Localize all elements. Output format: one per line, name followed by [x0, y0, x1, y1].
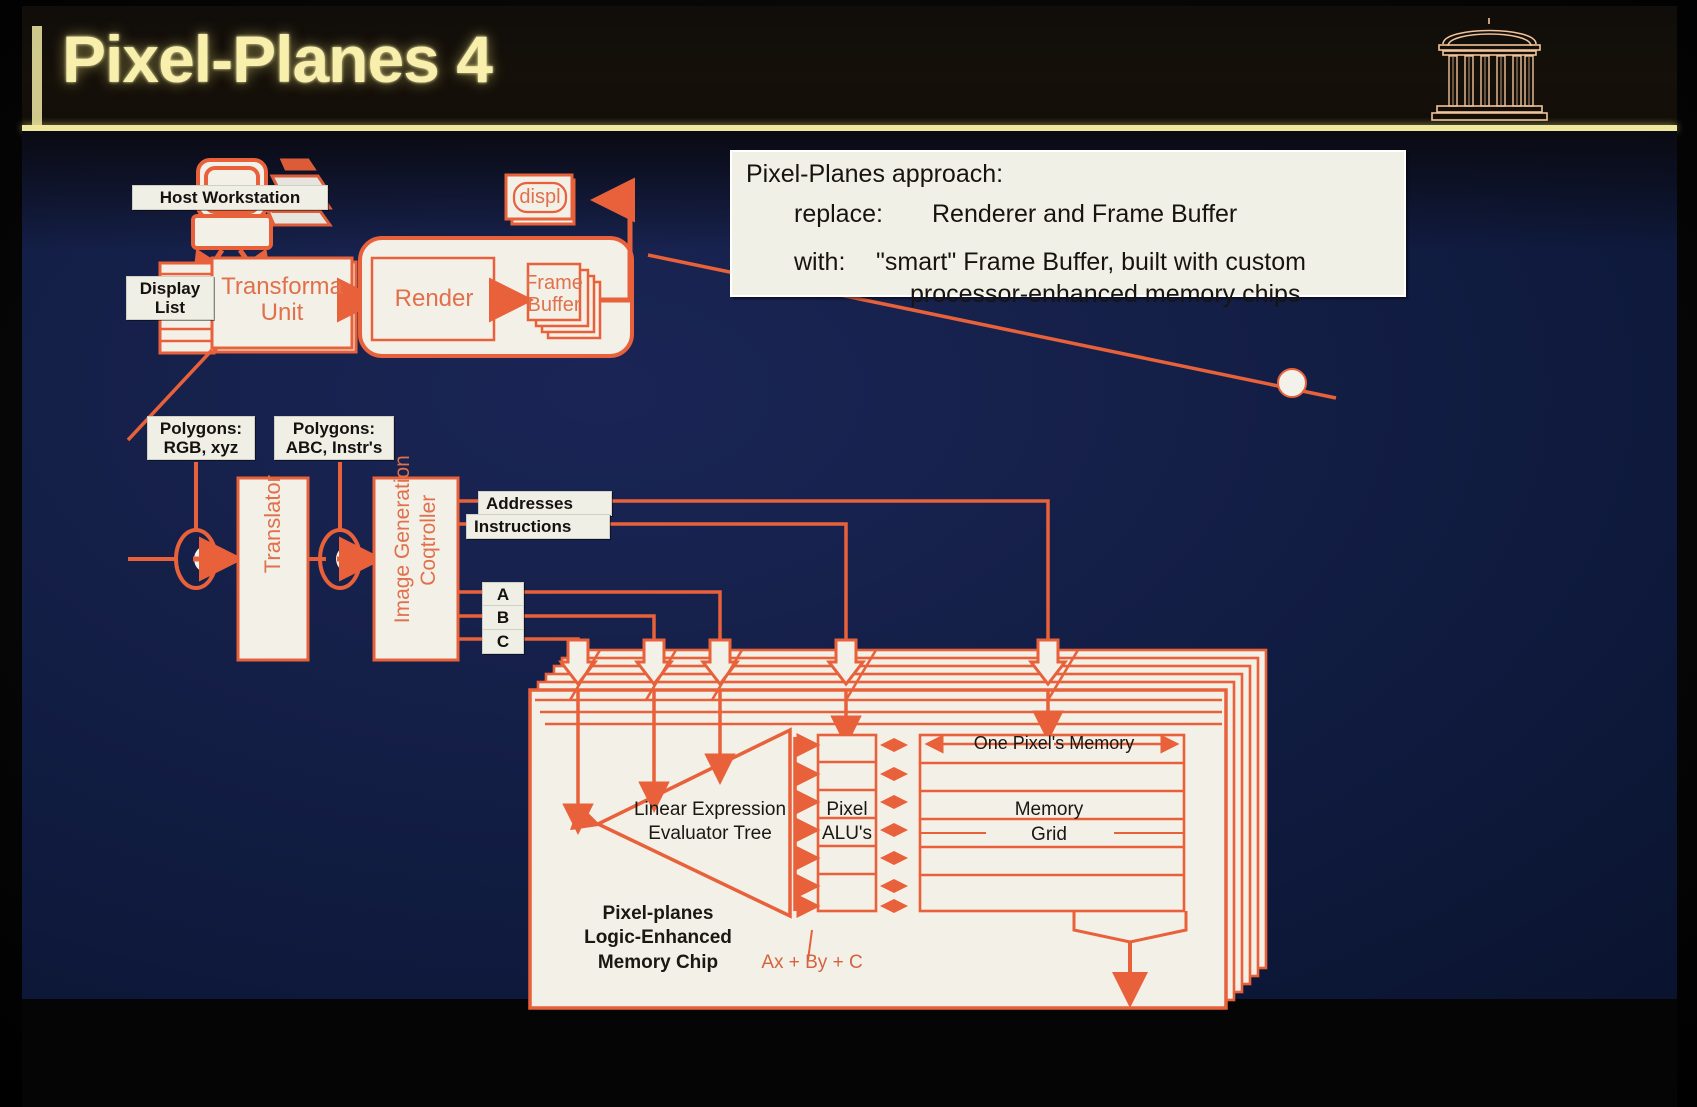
host-workstation-label: Host Workstation	[132, 185, 328, 210]
panel-with-label: with:	[794, 248, 845, 277]
coefficient-c-label: C	[482, 629, 524, 654]
panel-heading: Pixel-Planes approach:	[746, 160, 1003, 189]
frame-buffer-label: Frame Buffer	[523, 272, 585, 316]
linear-expression-formula: Ax + By + C	[752, 952, 872, 974]
image-generation-controller-label: Image Generation Coqtroller	[390, 457, 443, 623]
panel-replace-value: Renderer and Frame Buffer	[932, 200, 1237, 229]
coefficient-a-label: A	[482, 582, 524, 607]
panel-with-value: "smart" Frame Buffer, built with custom	[876, 248, 1306, 277]
approach-callout-panel: Pixel-Planes approach: replace: Renderer…	[730, 150, 1406, 297]
chip-caption: Pixel-planes Logic-Enhanced Memory Chip	[568, 902, 748, 975]
panel-replace-label: replace:	[794, 200, 883, 229]
display-list-label: Display List	[126, 276, 214, 320]
coefficient-b-label: B	[482, 605, 524, 630]
polygons-abc-label: Polygons: ABC, Instr's	[274, 416, 394, 460]
pixel-alus-label: Pixel ALU's	[808, 798, 886, 846]
render-label: Render	[378, 286, 490, 312]
one-pixels-memory-label: One Pixel's Memory	[968, 733, 1140, 754]
addresses-label: Addresses	[478, 491, 612, 516]
transformation-unit-label: Transforma Unit	[212, 274, 352, 327]
instructions-label: Instructions	[466, 514, 610, 539]
translator-label: Translator	[261, 465, 285, 583]
polygons-rgb-label: Polygons: RGB, xyz	[147, 416, 255, 460]
panel-with-value-cont: processor-enhanced memory chips	[910, 280, 1300, 309]
memory-grid-label: Memory Grid	[996, 798, 1102, 847]
lee-tree-label: Linear Expression Evaluator Tree	[630, 798, 790, 846]
slide-root: Pixel-Planes 4	[0, 0, 1697, 1107]
display-label: displ	[512, 186, 568, 208]
